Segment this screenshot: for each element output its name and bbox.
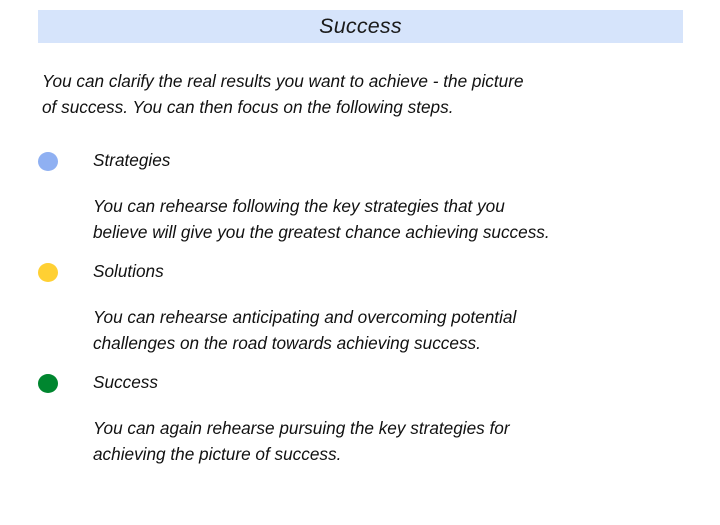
- yellow-bullet-dot: [38, 263, 58, 282]
- body-line: challenges on the road towards achieving…: [93, 330, 690, 356]
- page-title: Success: [319, 16, 402, 38]
- section-header: Strategies: [0, 148, 720, 174]
- body-line: believe will give you the greatest chanc…: [93, 219, 690, 245]
- blue-bullet-dot: [38, 152, 58, 171]
- list-item: Solutions You can rehearse anticipating …: [0, 259, 720, 356]
- section-body-success: You can again rehearse pursuing the key …: [0, 415, 720, 467]
- body-line: You can again rehearse pursuing the key …: [93, 415, 690, 441]
- section-header: Success: [0, 370, 720, 396]
- body-line: achieving the picture of success.: [93, 441, 690, 467]
- intro-line: You can clarify the real results you wan…: [42, 68, 682, 94]
- section-header: Solutions: [0, 259, 720, 285]
- title-banner: Success: [38, 10, 683, 43]
- section-title-solutions: Solutions: [93, 259, 164, 283]
- section-list: Strategies You can rehearse following th…: [0, 148, 720, 481]
- section-title-strategies: Strategies: [93, 148, 170, 172]
- green-bullet-dot: [38, 374, 58, 393]
- slide-canvas: Success You can clarify the real results…: [0, 0, 720, 525]
- intro-line: of success. You can then focus on the fo…: [42, 94, 682, 120]
- section-body-solutions: You can rehearse anticipating and overco…: [0, 304, 720, 356]
- section-body-strategies: You can rehearse following the key strat…: [0, 193, 720, 245]
- list-item: Success You can again rehearse pursuing …: [0, 370, 720, 467]
- body-line: You can rehearse anticipating and overco…: [93, 304, 690, 330]
- body-line: You can rehearse following the key strat…: [93, 193, 690, 219]
- section-title-success: Success: [93, 370, 158, 394]
- intro-paragraph: You can clarify the real results you wan…: [42, 68, 682, 120]
- list-item: Strategies You can rehearse following th…: [0, 148, 720, 245]
